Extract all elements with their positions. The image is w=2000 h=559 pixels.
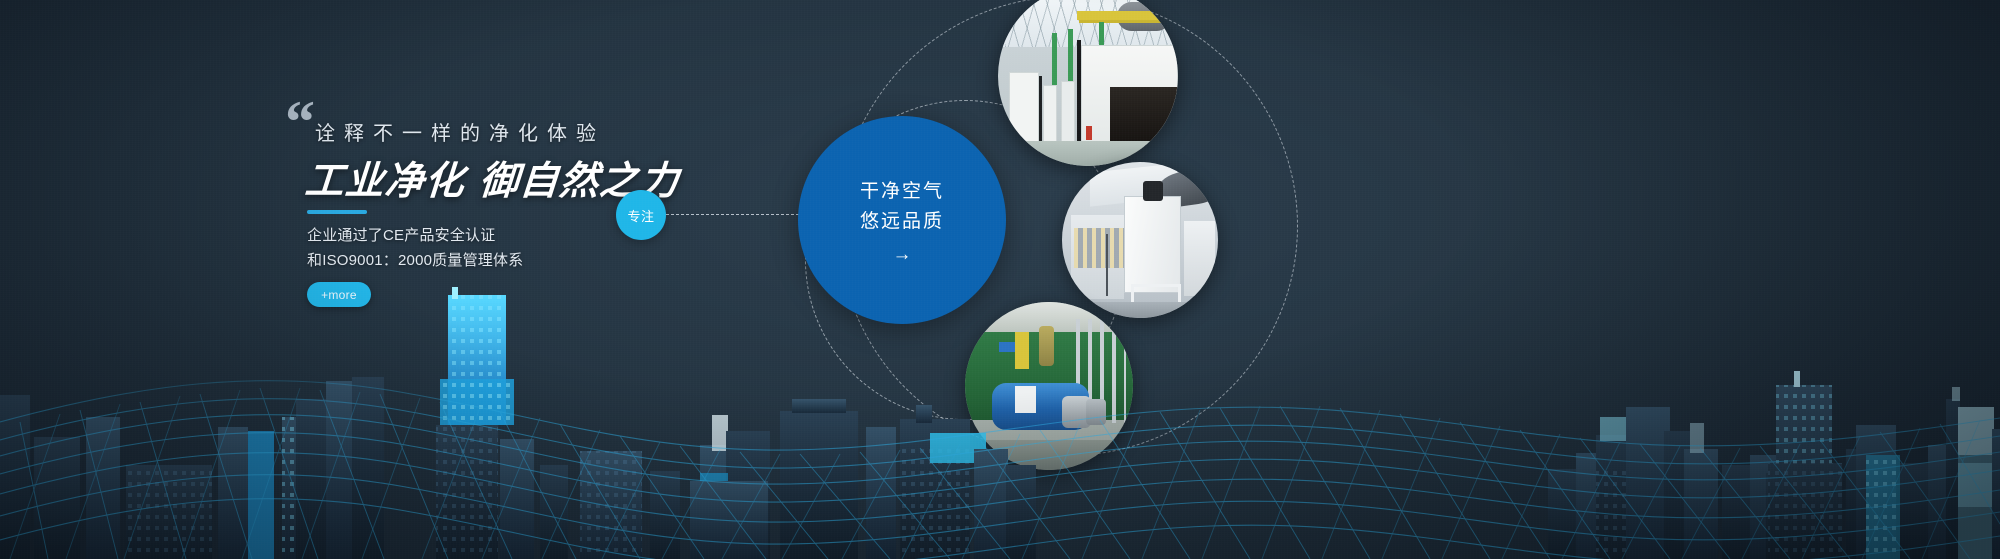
focus-badge-label: 专注 — [627, 206, 654, 225]
arrow-right-icon: → — [893, 245, 912, 264]
main-circle-cta[interactable]: 干净空气 悠远品质 → — [798, 116, 1006, 324]
hero-banner: “ 诠释不一样的净化体验 工业净化 御自然之力 企业通过了CE产品安全认证 和I… — [0, 0, 2000, 559]
photo-circle-pressure-vessel[interactable] — [965, 302, 1133, 470]
accent-rule — [307, 210, 367, 214]
quote-mark-icon: “ — [285, 92, 313, 152]
photo-circle-industrial-hall[interactable] — [998, 0, 1178, 166]
hero-graphic: 专注 干净空气 悠远品质 → — [600, 0, 1500, 559]
photo-pressure-vessel-image — [965, 302, 1133, 470]
hero-description-line-2: 和ISO9001：2000质量管理体系 — [307, 248, 523, 273]
hero-description-line-1: 企业通过了CE产品安全认证 — [307, 223, 523, 248]
photo-circle-machinery-line[interactable] — [1062, 162, 1218, 318]
connector-line — [666, 214, 799, 215]
main-circle-line-1: 干净空气 — [860, 177, 944, 207]
photo-industrial-hall-image — [998, 0, 1178, 166]
hero-description: 企业通过了CE产品安全认证 和ISO9001：2000质量管理体系 — [307, 223, 523, 273]
more-button[interactable]: +more — [307, 282, 371, 307]
focus-badge[interactable]: 专注 — [616, 190, 666, 240]
main-circle-line-2: 悠远品质 — [860, 207, 944, 237]
photo-machinery-line-image — [1062, 162, 1218, 318]
hero-subtitle: 诠释不一样的净化体验 — [315, 117, 605, 146]
